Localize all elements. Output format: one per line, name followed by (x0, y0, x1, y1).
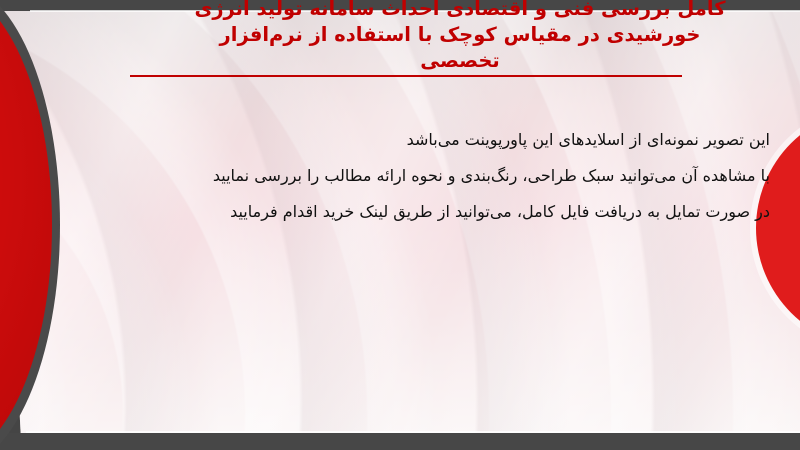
bottom-chrome-bar (0, 433, 800, 450)
title-divider-rule (130, 75, 682, 77)
body-line-1: این تصویر نمونه‌ای از اسلایدهای این پاور… (30, 122, 770, 158)
body-line-3: در صورت تمایل به دریافت فایل کامل، می‌تو… (30, 194, 770, 230)
slide-title-line-2: خورشیدی در مقیاس کوچک با استفاده از نرم‌… (150, 22, 770, 48)
plate-bottom-highlight (26, 431, 800, 433)
slide-title-line-1: کامل بررسی فنی و اقتصادی احداث سامانه تو… (150, 0, 770, 22)
slide-title-line-3: تخصصی (150, 48, 770, 74)
presentation-slide: کامل بررسی فنی و اقتصادی احداث سامانه تو… (0, 0, 800, 450)
slide-title: کامل بررسی فنی و اقتصادی احداث سامانه تو… (150, 0, 770, 74)
body-line-2: با مشاهده آن می‌توانید سبک طراحی، رنگ‌بن… (30, 158, 770, 194)
slide-body-text: این تصویر نمونه‌ای از اسلایدهای این پاور… (30, 122, 770, 230)
